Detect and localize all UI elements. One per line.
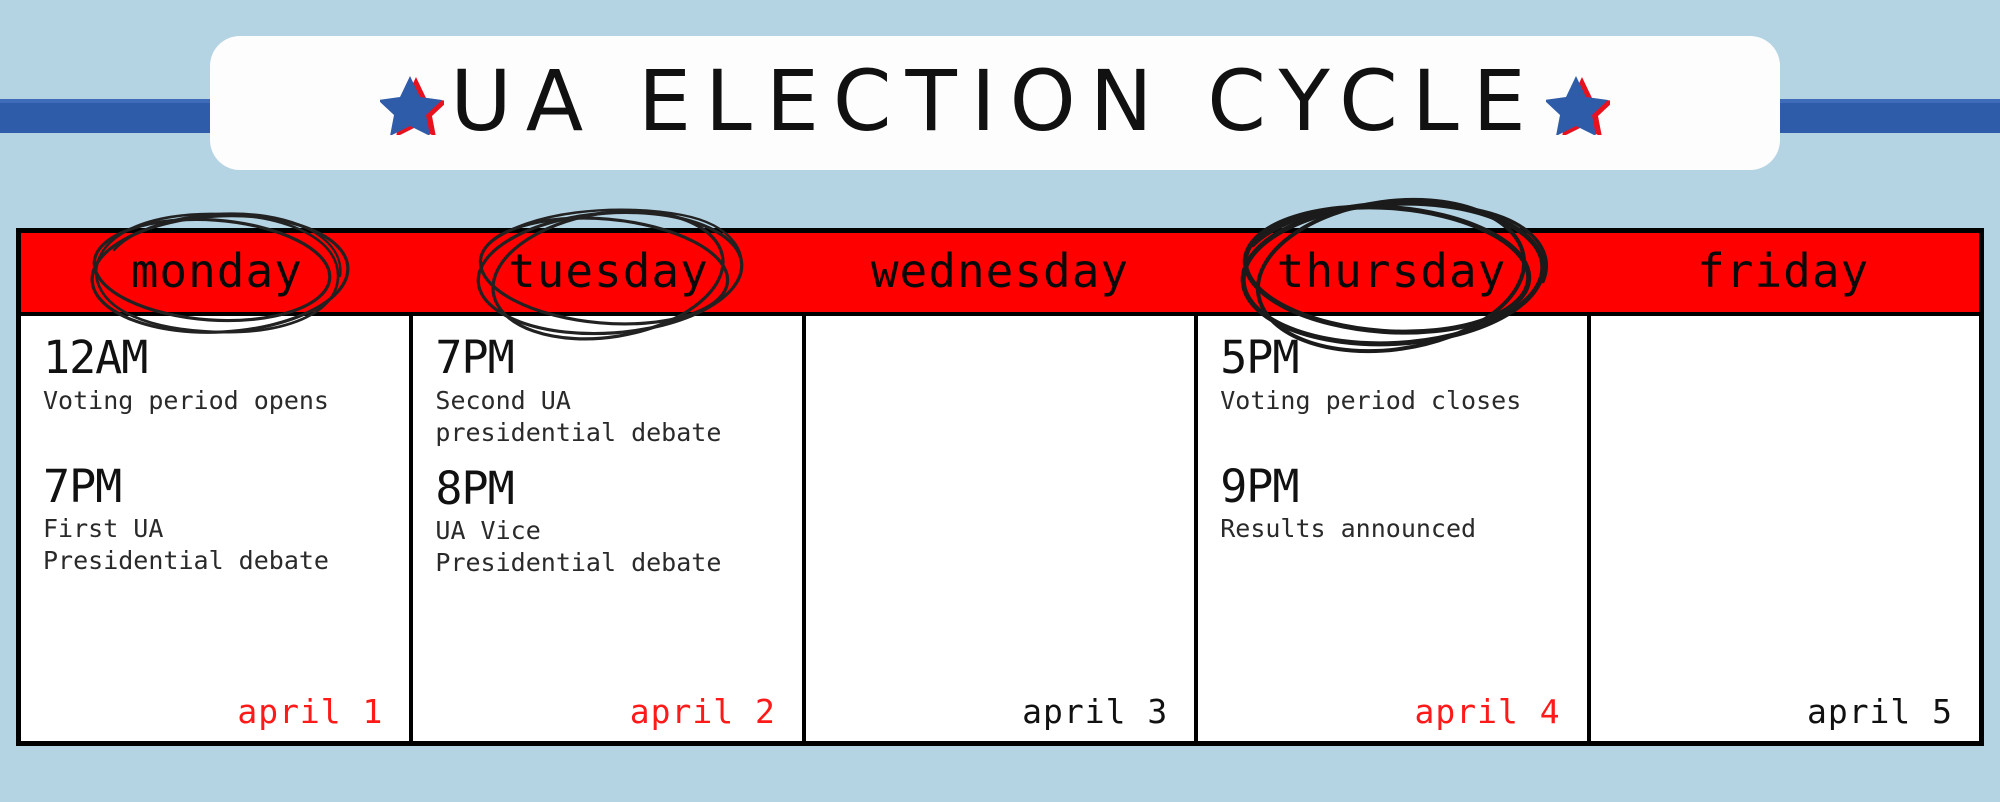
event-time: 5PM — [1220, 334, 1564, 383]
event-description: Voting period closes — [1220, 385, 1564, 417]
calendar-header-row: monday tuesday wednesday thursday fr — [21, 233, 1979, 316]
event-item: 8PM UA Vice Presidential debate — [435, 465, 779, 580]
date-label: april 4 — [1220, 695, 1564, 742]
day-label: monday — [131, 248, 303, 294]
event-description: Results announced — [1220, 513, 1564, 545]
event-time: 7PM — [43, 463, 387, 512]
event-item: 7PM Second UA presidential debate — [435, 334, 779, 449]
day-label: thursday — [1277, 248, 1507, 294]
date-label: april 5 — [1613, 695, 1957, 742]
event-description: UA Vice Presidential debate — [435, 515, 779, 579]
event-description: Second UA presidential debate — [435, 385, 779, 449]
event-item: 5PM Voting period closes — [1220, 334, 1564, 417]
calendar-body-row: 12AM Voting period opens 7PM First UA Pr… — [21, 316, 1979, 742]
day-label: tuesday — [508, 248, 709, 294]
event-time: 9PM — [1220, 463, 1564, 512]
day-header-thursday[interactable]: thursday — [1196, 233, 1588, 312]
event-item: 12AM Voting period opens — [43, 334, 387, 417]
date-label: april 2 — [435, 695, 779, 742]
day-header-tuesday[interactable]: tuesday — [413, 233, 805, 312]
day-cell-tuesday[interactable]: 7PM Second UA presidential debate 8PM UA… — [413, 316, 805, 742]
day-label: friday — [1697, 248, 1869, 294]
event-description: First UA Presidential debate — [43, 513, 387, 577]
date-label: april 3 — [828, 695, 1172, 742]
title-banner: UA ELECTION CYCLE — [210, 36, 1780, 170]
date-label: april 1 — [43, 695, 387, 742]
day-cell-wednesday[interactable]: april 3 — [806, 316, 1198, 742]
day-header-monday[interactable]: monday — [21, 233, 413, 312]
star-icon — [380, 71, 444, 135]
day-label: wednesday — [871, 248, 1129, 294]
day-header-friday[interactable]: friday — [1587, 233, 1979, 312]
page-title: UA ELECTION CYCLE — [450, 59, 1539, 143]
day-cell-thursday[interactable]: 5PM Voting period closes 9PM Results ann… — [1198, 316, 1590, 742]
star-icon — [1546, 71, 1610, 135]
day-cell-friday[interactable]: april 5 — [1591, 316, 1979, 742]
event-description: Voting period opens — [43, 385, 387, 417]
event-time: 8PM — [435, 465, 779, 514]
event-item: 7PM First UA Presidential debate — [43, 463, 387, 578]
day-header-wednesday[interactable]: wednesday — [804, 233, 1196, 312]
event-time: 12AM — [43, 334, 387, 383]
calendar-table: monday tuesday wednesday thursday fr — [16, 228, 1984, 746]
day-cell-monday[interactable]: 12AM Voting period opens 7PM First UA Pr… — [21, 316, 413, 742]
event-time: 7PM — [435, 334, 779, 383]
event-item: 9PM Results announced — [1220, 463, 1564, 546]
